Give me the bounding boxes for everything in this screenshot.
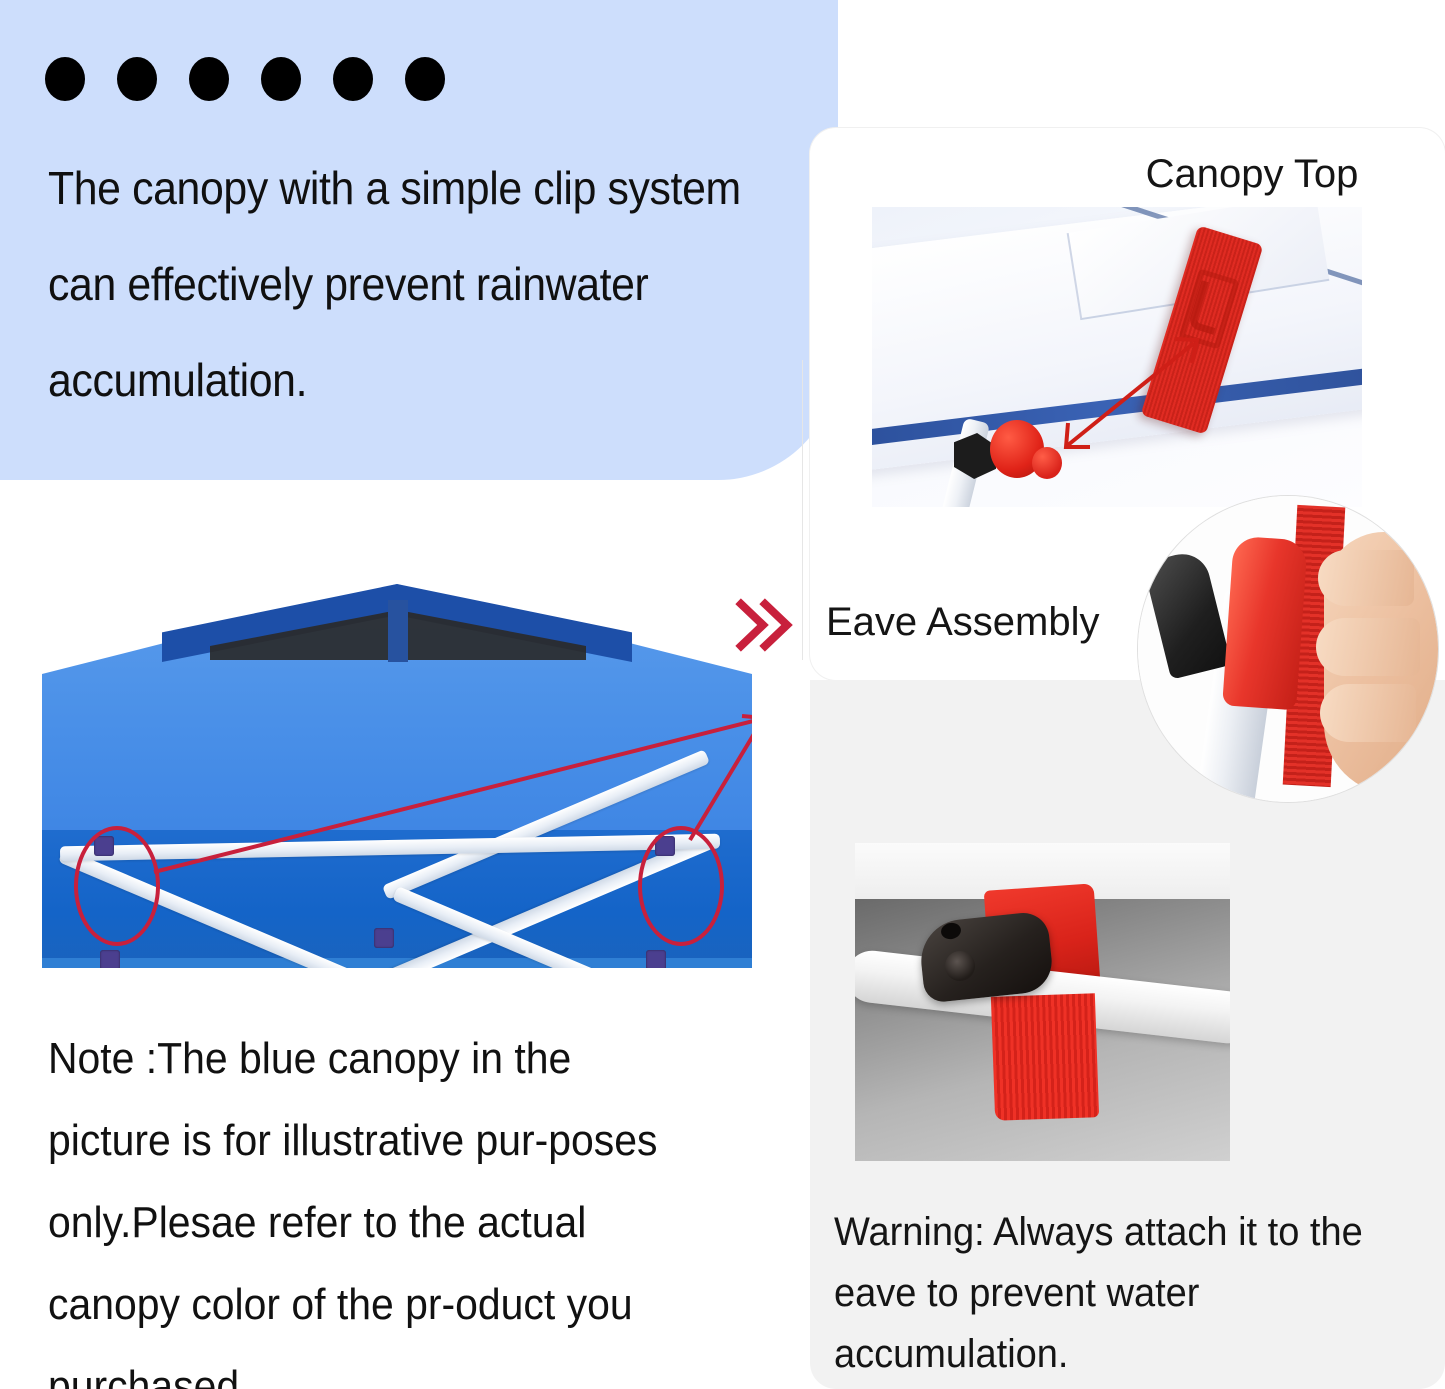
- canopy-clip: [646, 950, 666, 968]
- infographic-page: The canopy with a simple clip system can…: [0, 0, 1445, 1389]
- finger: [1320, 684, 1416, 742]
- buckle-pin: [945, 951, 975, 981]
- canopy-illustration-photo: [42, 548, 752, 968]
- chevron-double-right-icon: [735, 598, 795, 654]
- canopy-center-post: [388, 600, 408, 662]
- double-headed-arrow-icon: [872, 207, 1362, 507]
- red-strap-lower: [991, 993, 1099, 1121]
- bullet-dot-icon: [45, 57, 85, 101]
- column-divider: [802, 360, 803, 660]
- eave-assembly-photo: [1138, 496, 1438, 802]
- canopy-top-label: Canopy Top: [1122, 152, 1382, 197]
- annotation-circle-right: [638, 826, 724, 946]
- annotation-circle-left: [74, 826, 160, 946]
- red-clip: [1222, 536, 1308, 711]
- hand: [1324, 532, 1438, 794]
- canopy-clip: [374, 928, 394, 948]
- finger: [1316, 618, 1420, 676]
- headline-text: The canopy with a simple clip system can…: [48, 140, 764, 428]
- bullet-dot-icon: [189, 57, 229, 101]
- canopy-top-photo: [872, 207, 1362, 507]
- canopy-clip: [100, 950, 120, 968]
- note-text: Note :The blue canopy in the picture is …: [48, 1018, 690, 1389]
- bullet-dots-row: [45, 56, 475, 102]
- bullet-dot-icon: [117, 57, 157, 101]
- warning-text: Warning: Always attach it to the eave to…: [834, 1202, 1395, 1385]
- eave-detail-photo: [855, 843, 1230, 1161]
- eave-assembly-label: Eave Assembly: [826, 600, 1099, 645]
- bullet-dot-icon: [333, 57, 373, 101]
- bullet-dot-icon: [405, 57, 445, 101]
- bullet-dot-icon: [261, 57, 301, 101]
- finger: [1318, 550, 1414, 606]
